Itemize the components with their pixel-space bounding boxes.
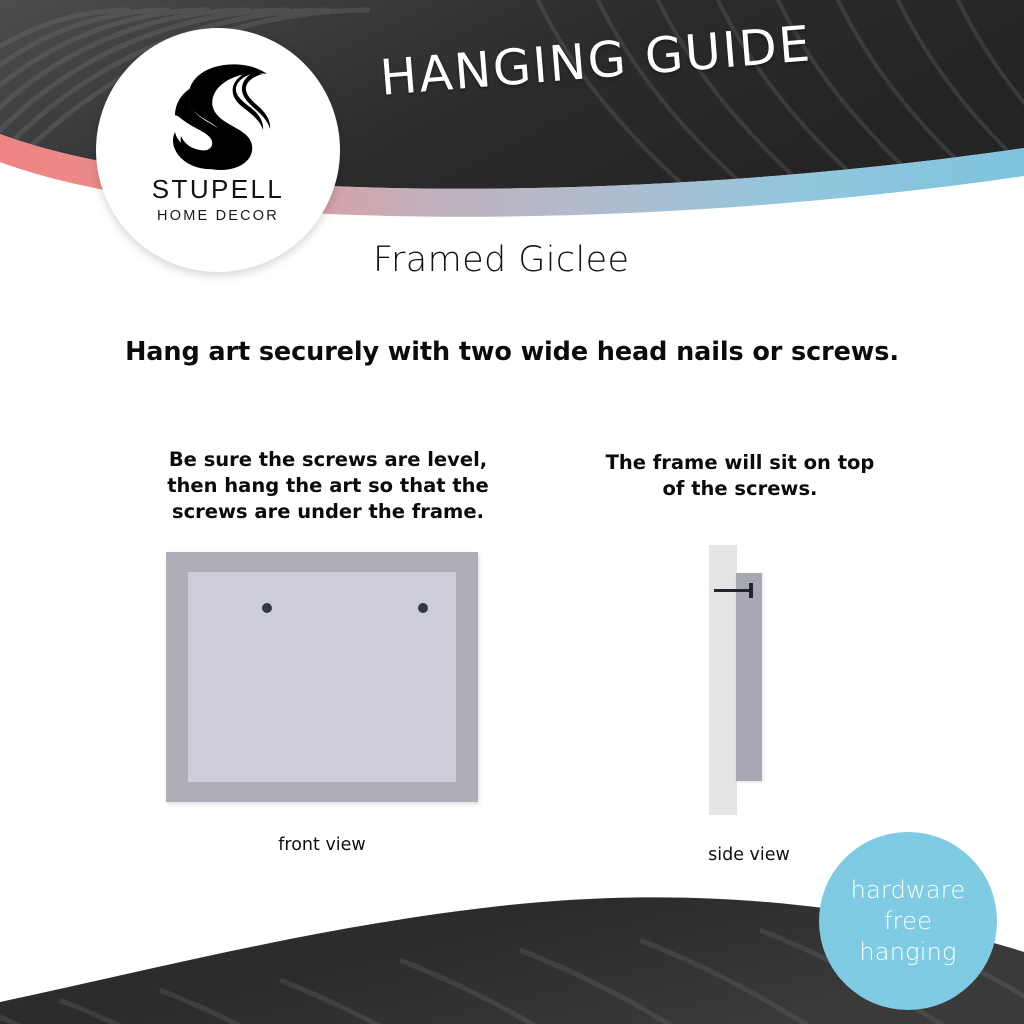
side-view-frame-diagram <box>709 545 789 815</box>
screw-dot-left-icon <box>262 603 272 613</box>
badge-line-1: hardware <box>851 875 966 906</box>
page-title: HANGING GUIDE <box>378 15 814 107</box>
front-view-label: front view <box>166 835 478 855</box>
front-view-caption: Be sure the screws are level, then hang … <box>148 447 508 525</box>
side-view-wall <box>709 545 737 815</box>
brand-tagline: HOME DECOR <box>157 209 279 224</box>
hardware-free-hanging-badge: hardware free hanging <box>819 832 997 1010</box>
brand-name: STUPELL <box>152 176 284 202</box>
stupell-swirl-logo-icon <box>153 54 283 174</box>
badge-line-2: free <box>884 906 932 937</box>
hanging-guide-page: STUPELL HOME DECOR HANGING GUIDE Framed … <box>0 0 1024 1024</box>
nail-shaft-icon <box>714 589 751 592</box>
nail-head-icon <box>749 583 753 598</box>
brand-logo-badge: STUPELL HOME DECOR <box>96 28 340 272</box>
front-view-artwork-mat <box>188 572 456 782</box>
side-view-frame <box>736 573 762 781</box>
product-type-heading: Framed Giclee <box>373 240 629 280</box>
intro-instruction: Hang art securely with two wide head nai… <box>0 337 1024 367</box>
side-view-caption: The frame will sit on top of the screws. <box>592 450 888 502</box>
side-view-label: side view <box>660 845 838 865</box>
screw-dot-right-icon <box>418 603 428 613</box>
badge-line-3: hanging <box>859 937 956 968</box>
front-view-frame-diagram <box>166 552 478 802</box>
